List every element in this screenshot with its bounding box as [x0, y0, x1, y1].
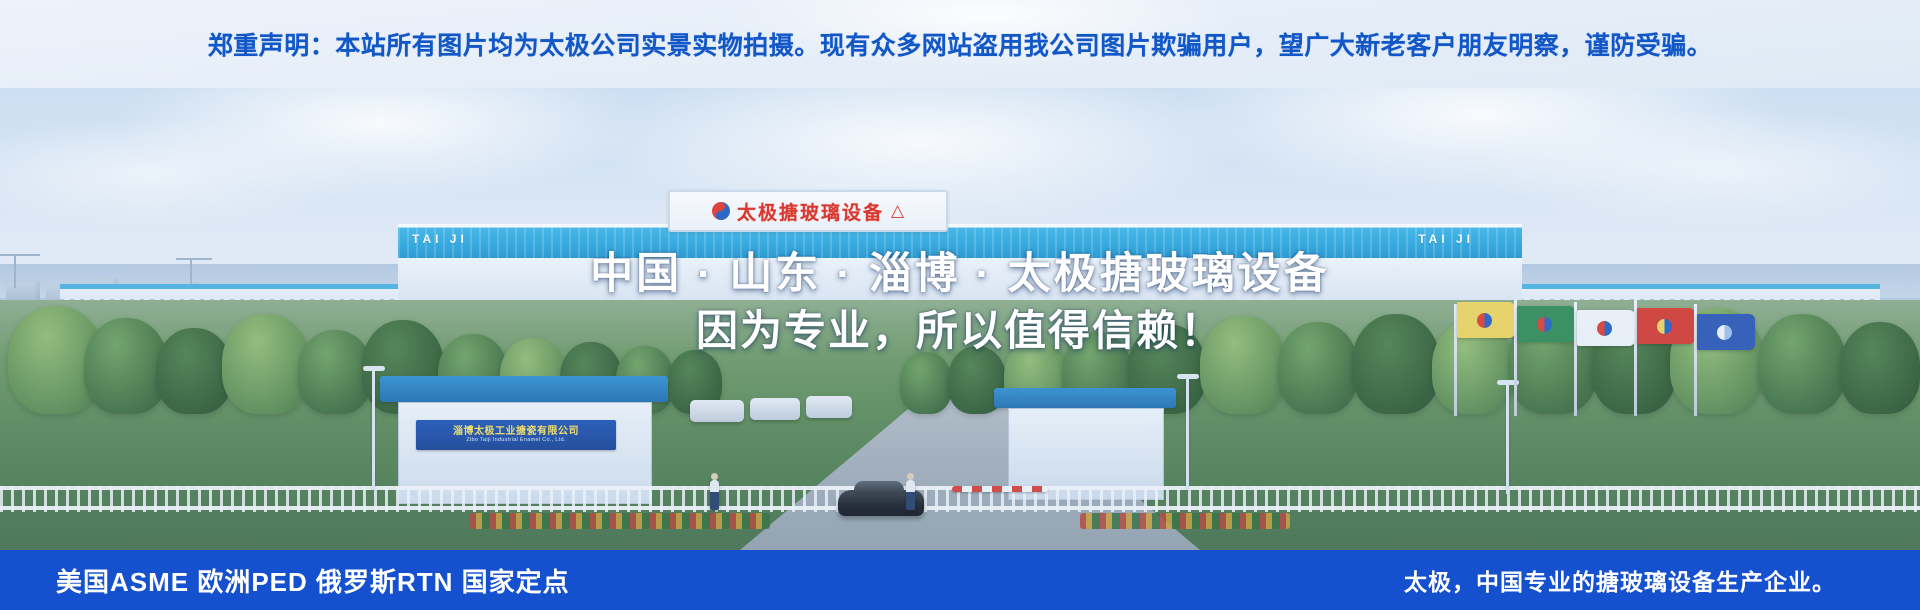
banner-stage: 郑重声明：本站所有图片均为太极公司实景实物拍摄。现有众多网站盗用我公司图片欺骗用… — [0, 0, 1920, 610]
gatehouse-roof — [994, 388, 1176, 408]
gate-barrier — [952, 486, 1048, 492]
security-guard — [710, 480, 719, 510]
factory-label-left: TAI JI — [412, 232, 468, 246]
flower-bed — [470, 513, 770, 529]
certifications-text: 美国ASME 欧洲PED 俄罗斯RTN 国家定点 — [56, 550, 570, 610]
hero-photo: TAI JI TAI JI 太极搪玻璃设备 △ — [0, 88, 1920, 550]
flag-blue — [1697, 314, 1755, 350]
factory-roof: TAI JI TAI JI — [398, 224, 1522, 261]
factory-sign-board: 太极搪玻璃设备 △ — [668, 190, 948, 232]
fence-rail-bottom — [0, 506, 1920, 510]
company-gate-sign: 淄博太极工业搪瓷有限公司 Zibo Taiji Industrial Ename… — [416, 420, 616, 450]
bottom-blue-bar: 美国ASME 欧洲PED 俄罗斯RTN 国家定点 太极，中国专业的搪玻璃设备生产… — [0, 550, 1920, 610]
reactor-vessel-icon: △ — [891, 201, 904, 221]
gatehouse-right — [1000, 388, 1170, 498]
notice-bar: 郑重声明：本站所有图片均为太极公司实景实物拍摄。现有众多网站盗用我公司图片欺骗用… — [0, 0, 1920, 88]
security-guard — [906, 480, 915, 510]
gatehouse-roof — [380, 376, 668, 402]
flag-red — [1637, 308, 1695, 344]
factory-sign-text: 太极搪玻璃设备 — [737, 198, 884, 225]
street-lamp — [372, 370, 375, 490]
gate-sign-chinese: 淄博太极工业搪瓷有限公司 — [453, 426, 579, 437]
flag-green — [1517, 306, 1575, 342]
flower-bed — [1080, 513, 1290, 529]
parked-van — [806, 396, 852, 418]
factory-label-right: TAI JI — [1418, 232, 1474, 246]
flag-row — [1452, 296, 1732, 416]
gatehouse-left: 淄博太极工业搪瓷有限公司 Zibo Taiji Industrial Ename… — [388, 376, 660, 502]
parked-van — [750, 398, 800, 420]
flag-white — [1577, 310, 1635, 346]
gate-sign-english: Zibo Taiji Industrial Enamel Co., Ltd. — [466, 437, 565, 444]
parked-van — [690, 400, 744, 422]
notice-text: 郑重声明：本站所有图片均为太极公司实景实物拍摄。现有众多网站盗用我公司图片欺骗用… — [208, 26, 1713, 62]
street-lamp — [1186, 378, 1189, 490]
flag-yellow — [1457, 302, 1515, 338]
yin-yang-taiji-logo-icon — [712, 202, 730, 220]
company-slogan-text: 太极，中国专业的搪玻璃设备生产企业。 — [1404, 550, 1836, 610]
